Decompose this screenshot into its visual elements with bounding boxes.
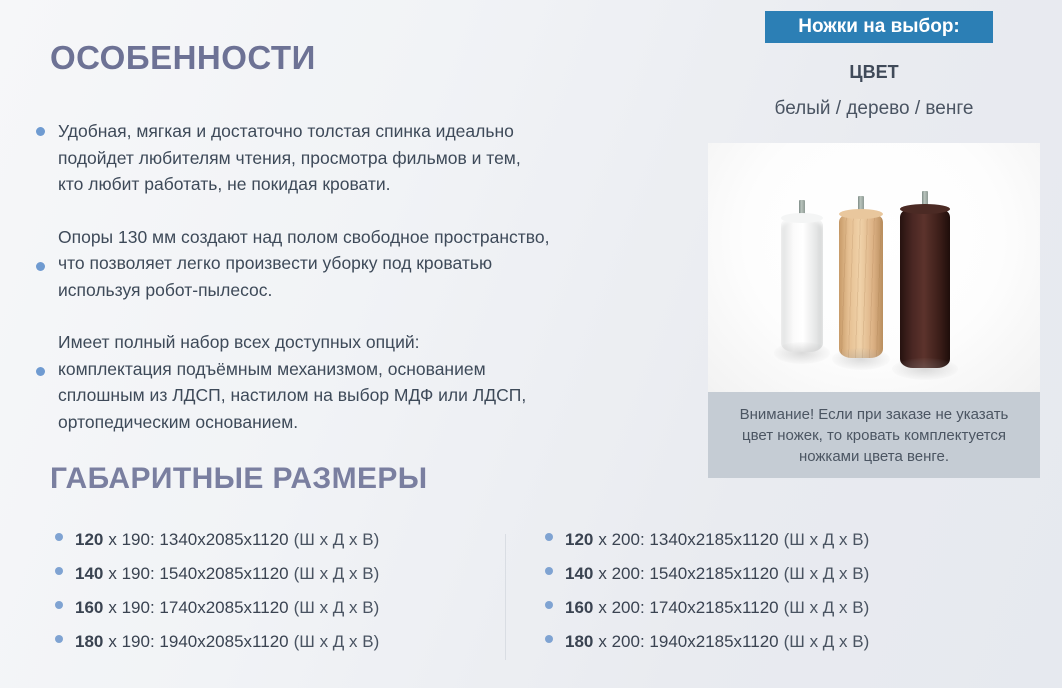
bullet-dot-icon [545, 567, 553, 575]
leg-top [900, 204, 950, 214]
table-row: 140 x 200: 1540x2185x1120 (Ш х Д х В) [545, 564, 1005, 598]
bullet-dot-icon [545, 601, 553, 609]
dimension-size: 160 [565, 598, 593, 618]
dimensions-column-200: 120 x 200: 1340x2185x1120 (Ш х Д х В) 14… [545, 530, 1005, 666]
leg-wood [839, 213, 883, 358]
table-row: 180 x 190: 1940x2085x1120 (Ш х Д х В) [55, 632, 505, 666]
leg-top [839, 209, 883, 219]
dimension-spec: x 190: 1340x2085x1120 [108, 530, 288, 550]
legs-choice-badge: Ножки на выбор: [765, 11, 993, 43]
bullet-dot-icon [545, 635, 553, 643]
leg-white [781, 217, 823, 352]
table-row: 160 x 190: 1740x2085x1120 (Ш х Д х В) [55, 598, 505, 632]
dimension-legend: (Ш х Д х В) [294, 632, 380, 652]
dimension-spec: x 200: 1540x2185x1120 [598, 564, 778, 584]
dimension-spec: x 200: 1940x2185x1120 [598, 632, 778, 652]
feature-text: Удобная, мягкая и достаточно толстая спи… [58, 118, 521, 198]
bullet-dot-icon [55, 533, 63, 541]
legs-color-label: ЦВЕТ [708, 62, 1040, 83]
dimension-spec: x 190: 1540x2085x1120 [108, 564, 288, 584]
list-item: Удобная, мягкая и достаточно толстая спи… [36, 118, 676, 198]
dimension-spec: x 190: 1740x2085x1120 [108, 598, 288, 618]
bullet-dot-icon [55, 635, 63, 643]
furniture-legs-photo [708, 143, 1040, 392]
leg-body [781, 217, 823, 352]
list-item: Имеет полный набор всех доступных опций:… [36, 329, 676, 435]
dimension-size: 140 [75, 564, 103, 584]
dimension-spec: x 200: 1740x2185x1120 [598, 598, 778, 618]
dimensions-section: 120 x 190: 1340x2085x1120 (Ш х Д х В) 14… [0, 530, 1062, 675]
dimension-legend: (Ш х Д х В) [784, 530, 870, 550]
dimension-legend: (Ш х Д х В) [294, 598, 380, 618]
table-row: 180 x 200: 1940x2185x1120 (Ш х Д х В) [545, 632, 1005, 666]
feature-text: Имеет полный набор всех доступных опций:… [58, 329, 526, 435]
column-divider [505, 534, 506, 660]
dimensions-column-190: 120 x 190: 1340x2085x1120 (Ш х Д х В) 14… [55, 530, 505, 666]
slide-root: ОСОБЕННОСТИ Удобная, мягкая и достаточно… [0, 0, 1062, 688]
dimension-legend: (Ш х Д х В) [784, 632, 870, 652]
dimension-legend: (Ш х Д х В) [784, 564, 870, 584]
table-row: 140 x 190: 1540x2085x1120 (Ш х Д х В) [55, 564, 505, 598]
dimension-legend: (Ш х Д х В) [294, 530, 380, 550]
page-title-features: ОСОБЕННОСТИ [50, 39, 316, 77]
bullet-dot-icon [36, 262, 45, 271]
list-item: Опоры 130 мм создают над полом свободное… [36, 224, 676, 304]
dimension-size: 180 [565, 632, 593, 652]
feature-text: Опоры 130 мм создают над полом свободное… [58, 224, 549, 304]
dimension-legend: (Ш х Д х В) [294, 564, 380, 584]
bullet-dot-icon [36, 367, 45, 376]
dimension-legend: (Ш х Д х В) [784, 598, 870, 618]
dimension-size: 120 [565, 530, 593, 550]
dimension-spec: x 200: 1340x2185x1120 [598, 530, 778, 550]
bullet-dot-icon [55, 567, 63, 575]
leg-body [900, 208, 950, 368]
features-bullet-list: Удобная, мягкая и достаточно толстая спи… [36, 118, 676, 461]
table-row: 160 x 200: 1740x2185x1120 (Ш х Д х В) [545, 598, 1005, 632]
bullet-dot-icon [545, 533, 553, 541]
legs-warning-note: Внимание! Если при заказе не указать цве… [708, 392, 1040, 478]
legs-color-values: белый / дерево / венге [708, 98, 1040, 120]
leg-top [781, 213, 823, 223]
leg-body [839, 213, 883, 358]
dimension-size: 140 [565, 564, 593, 584]
bullet-dot-icon [55, 601, 63, 609]
leg-wenge [900, 208, 950, 368]
leg-shadow [892, 358, 958, 380]
dimension-size: 160 [75, 598, 103, 618]
leg-shadow [832, 348, 890, 370]
wood-grain [839, 213, 883, 358]
bullet-dot-icon [36, 127, 45, 136]
leg-shadow [774, 342, 829, 364]
legs-warning-text: Внимание! Если при заказе не указать цве… [722, 404, 1026, 467]
table-row: 120 x 200: 1340x2185x1120 (Ш х Д х В) [545, 530, 1005, 564]
page-title-dimensions: ГАБАРИТНЫЕ РАЗМЕРЫ [50, 462, 428, 496]
table-row: 120 x 190: 1340x2085x1120 (Ш х Д х В) [55, 530, 505, 564]
dimension-spec: x 190: 1940x2085x1120 [108, 632, 288, 652]
dimension-size: 180 [75, 632, 103, 652]
dimension-size: 120 [75, 530, 103, 550]
